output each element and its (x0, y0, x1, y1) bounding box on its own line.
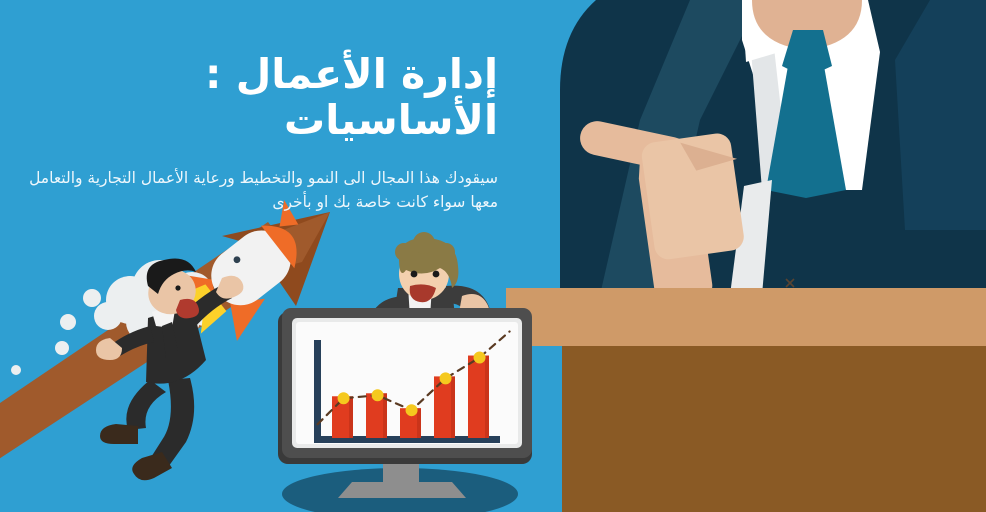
rocketman-eye (175, 285, 180, 290)
chart-bar-shading (451, 376, 455, 438)
desk-top (506, 288, 986, 346)
pointing-businessman (560, 0, 986, 302)
page-title: إدارة الأعمال : الأساسيات (0, 52, 498, 144)
chart-marker (474, 352, 486, 364)
chart-y-axis (314, 340, 321, 442)
chart-marker (372, 389, 384, 401)
page-subtitle: سيقودك هذا المجال الى النمو والتخطيط ورع… (0, 166, 498, 214)
chart-marker (440, 372, 452, 384)
chart-bar-shading (349, 396, 353, 438)
chart-marker (406, 404, 418, 416)
chart-bar-shading (417, 408, 421, 438)
headline-block: إدارة الأعمال : الأساسيات سيقودك هذا الم… (0, 52, 516, 214)
presenter-hair-curl-1 (395, 243, 413, 261)
presenter-hair-curl-3 (413, 232, 435, 254)
desk-front (562, 346, 986, 512)
monitor-stand-base (338, 482, 466, 498)
presenter-eye-right (433, 271, 440, 278)
chart-marker (338, 392, 350, 404)
poster-canvas: إدارة الأعمال : الأساسيات سيقودك هذا الم… (0, 0, 986, 512)
presenter-eye-left (411, 271, 418, 278)
wooden-desk (506, 288, 986, 512)
presenter-hair-curl-2 (437, 243, 455, 261)
rocketman-shoe-back (100, 424, 138, 444)
chart-bar-shading (485, 356, 489, 438)
